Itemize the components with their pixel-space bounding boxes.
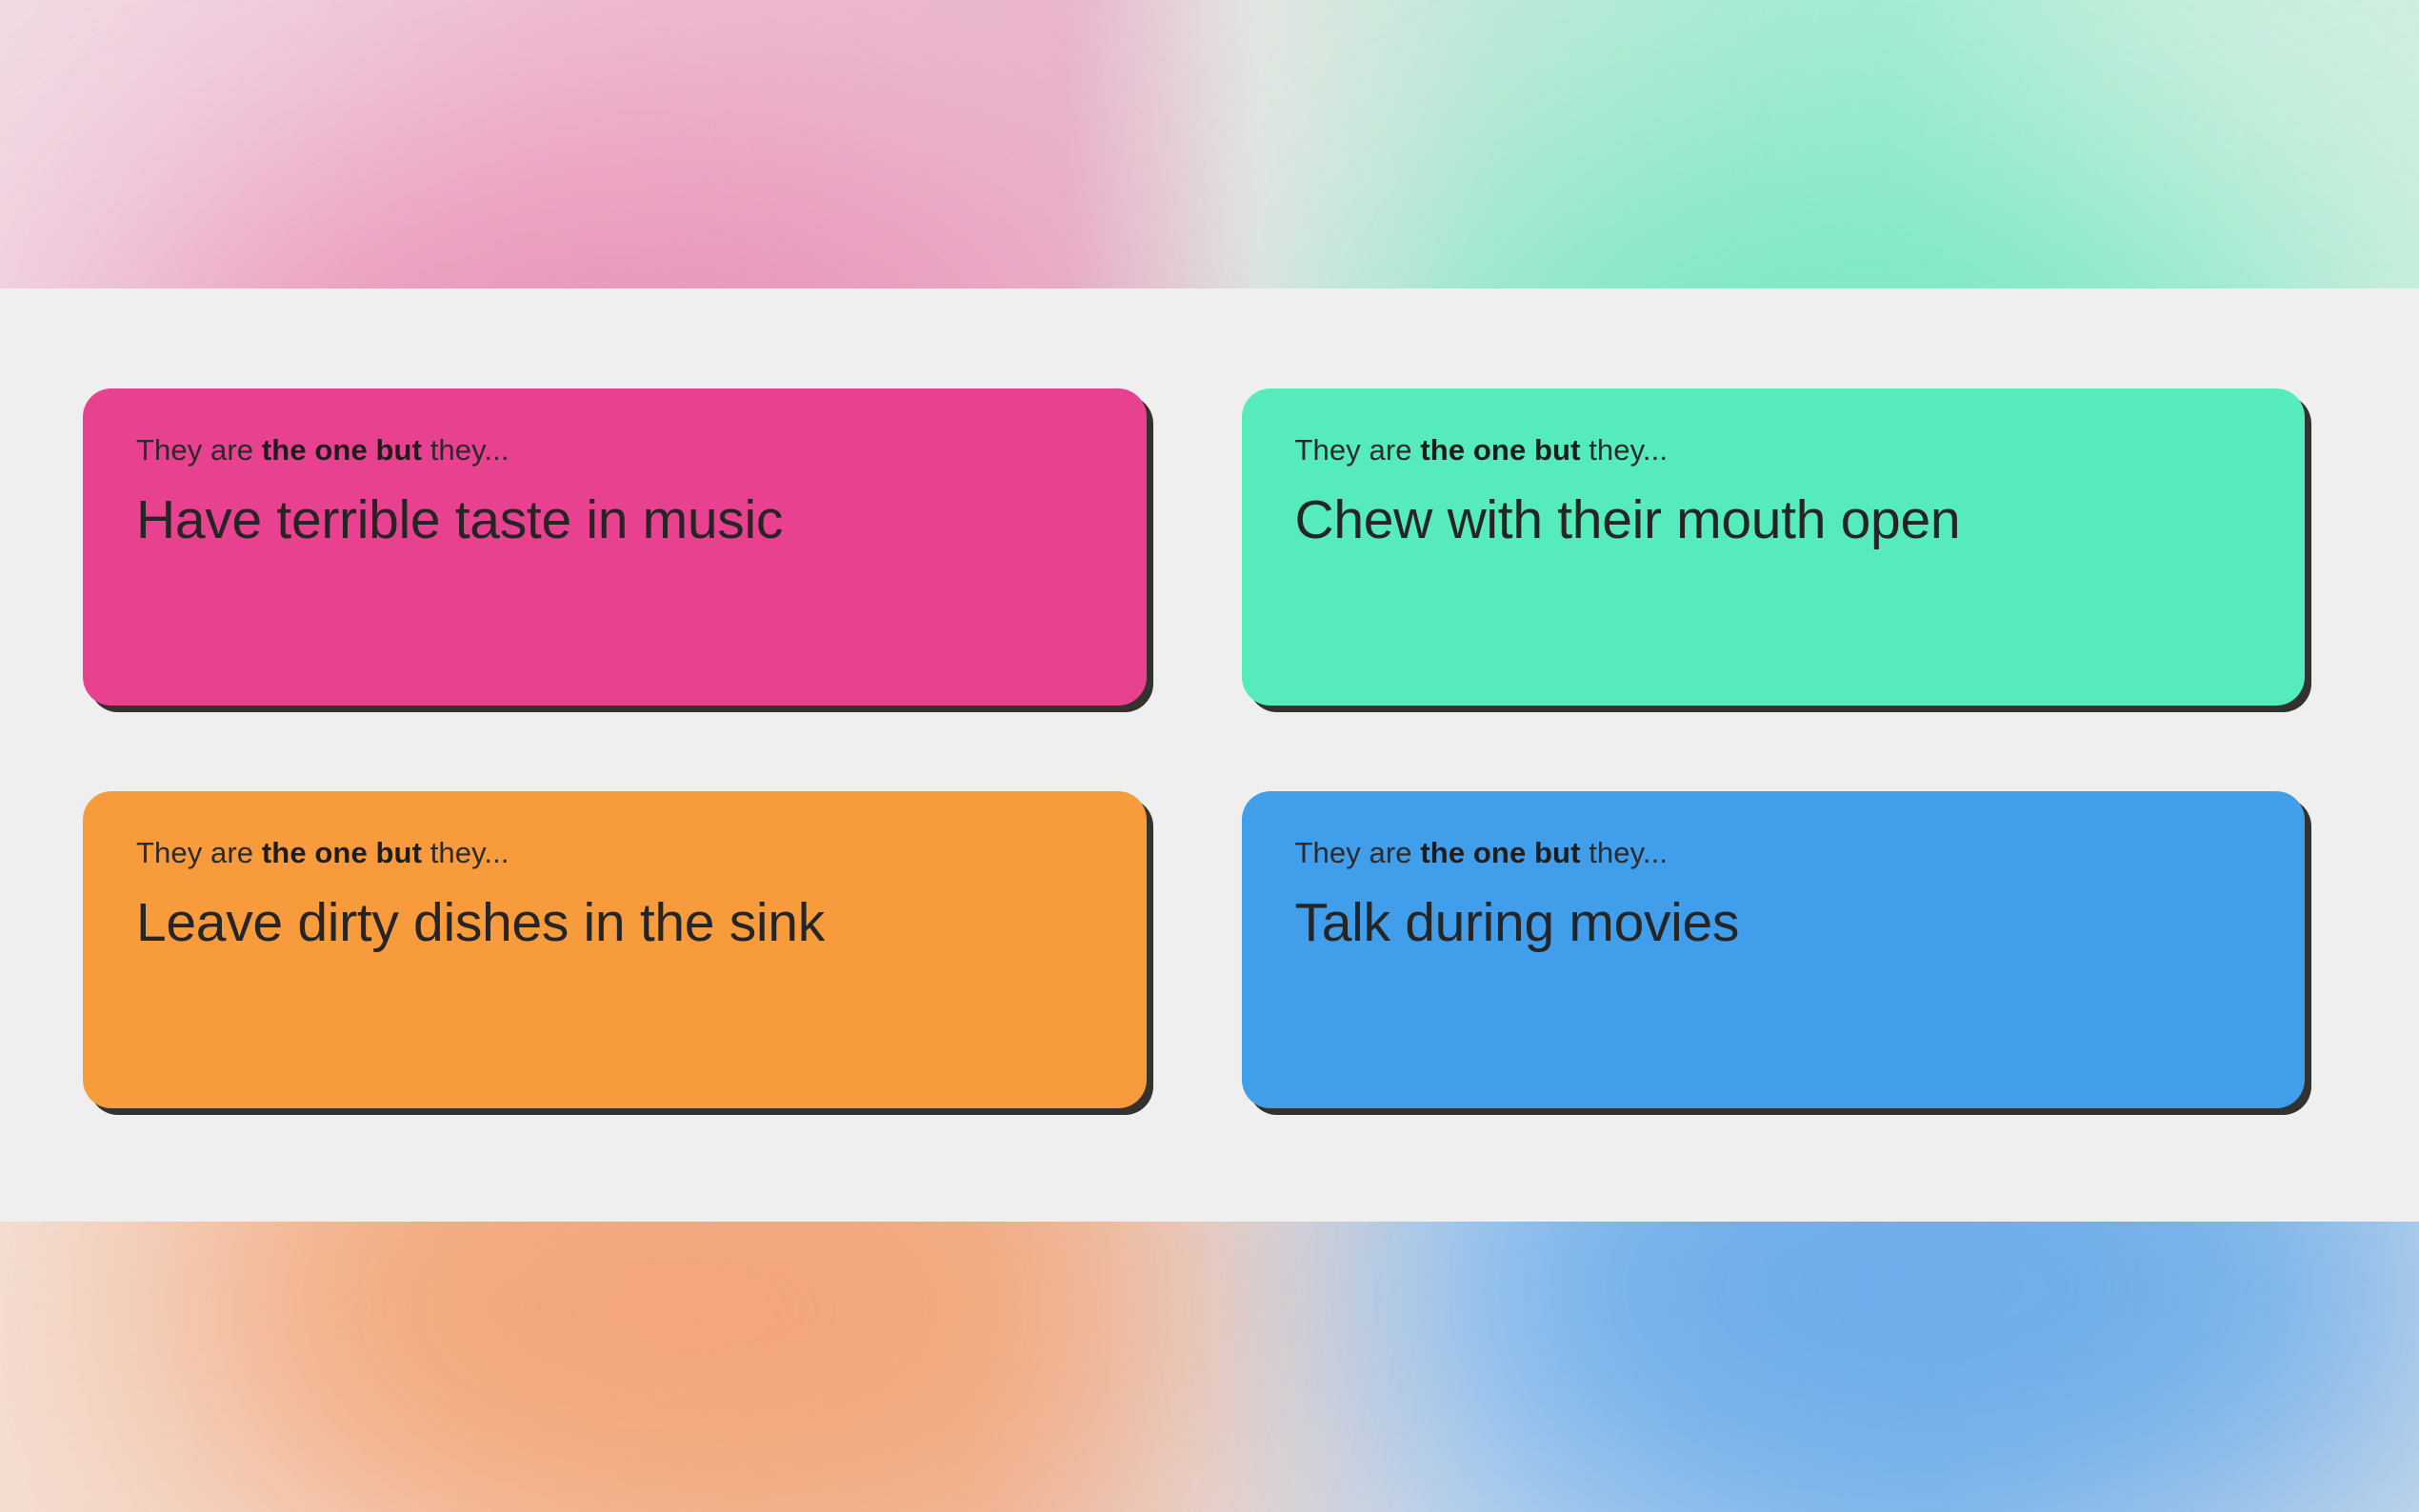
card-answer-2: Chew with their mouth open	[1295, 490, 2256, 550]
card-prompt-lead-3: They are	[136, 836, 262, 869]
card-prompt-emphasis-3: the one but	[262, 836, 422, 869]
card-prompt-lead-1: They are	[136, 433, 262, 467]
bottom-blue-blob	[1409, 1222, 2419, 1512]
option-card-2[interactable]: They are the one but they... Chew with t…	[1242, 388, 2306, 706]
top-gradient-strip	[0, 0, 2419, 288]
card-prompt-trail-4: they...	[1581, 836, 1669, 869]
card-prompt-emphasis-4: the one but	[1420, 836, 1580, 869]
card-prompt-lead-4: They are	[1295, 836, 1421, 869]
card-prompt-3: They are the one but they...	[136, 835, 1097, 872]
card-prompt-trail-2: they...	[1581, 433, 1669, 467]
card-prompt-emphasis-1: the one but	[262, 433, 422, 467]
option-card-grid: They are the one but they... Have terrib…	[83, 388, 2305, 1108]
card-prompt-4: They are the one but they...	[1295, 835, 2256, 872]
card-row-2: They are the one but they... Leave dirty…	[83, 791, 2305, 1108]
bottom-gradient-strip	[0, 1222, 2419, 1512]
option-card-3[interactable]: They are the one but they... Leave dirty…	[83, 791, 1147, 1108]
card-prompt-trail-1: they...	[422, 433, 510, 467]
card-prompt-lead-2: They are	[1295, 433, 1421, 467]
card-prompt-1: They are the one but they...	[136, 432, 1097, 469]
card-prompt-trail-3: they...	[422, 836, 510, 869]
card-answer-4: Talk during movies	[1295, 893, 2256, 953]
card-row-1: They are the one but they... Have terrib…	[83, 388, 2305, 706]
bottom-orange-blob	[171, 1222, 1171, 1512]
card-answer-1: Have terrible taste in music	[136, 490, 1097, 550]
screen: They are the one but they... Have terrib…	[0, 0, 2419, 1512]
card-prompt-2: They are the one but they...	[1295, 432, 2256, 469]
card-answer-3: Leave dirty dishes in the sink	[136, 893, 1097, 953]
option-card-1[interactable]: They are the one but they... Have terrib…	[83, 388, 1147, 706]
card-prompt-emphasis-2: the one but	[1420, 433, 1580, 467]
option-card-4[interactable]: They are the one but they... Talk during…	[1242, 791, 2306, 1108]
